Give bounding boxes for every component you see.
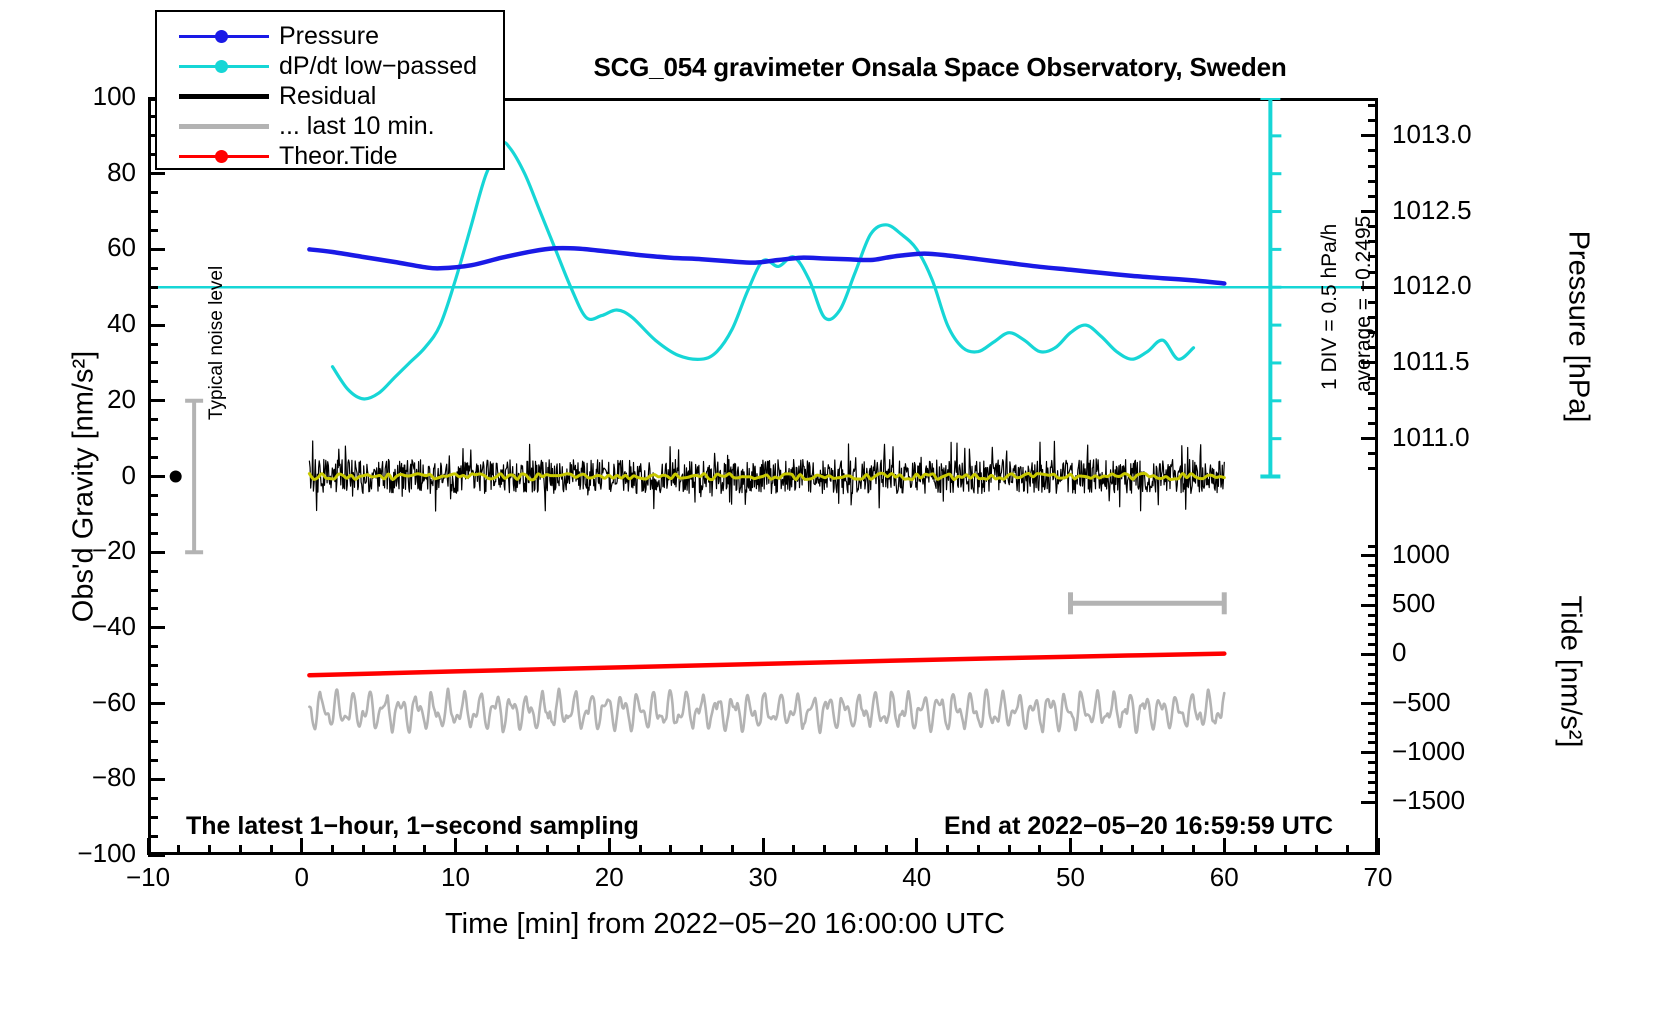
y-tick-tide-minor	[1368, 781, 1378, 784]
y-tick-pressure	[1361, 134, 1378, 137]
x-tick-minor	[1100, 845, 1103, 855]
legend-item-dp-dt-low-passed[interactable]: dP/dt low−passed	[157, 50, 503, 82]
x-tick	[915, 838, 918, 855]
y-tick-label-pressure: 1012.5	[1392, 195, 1522, 226]
x-tick-minor	[1284, 845, 1287, 855]
y-tick-tide-minor	[1368, 673, 1378, 676]
y-tick-left-minor	[148, 645, 158, 648]
y-tick-pressure	[1361, 437, 1378, 440]
x-tick-label: 10	[396, 862, 516, 893]
y-tick-tide	[1361, 653, 1378, 656]
y-tick-left	[148, 551, 165, 554]
legend: PressuredP/dt low−passedResidual... last…	[155, 10, 505, 170]
y-tick-tide-minor	[1368, 791, 1378, 794]
y-tick-left-minor	[148, 607, 158, 610]
y-tick-tide-minor	[1368, 574, 1378, 577]
y-tick-label-pressure: 1011.0	[1392, 422, 1522, 453]
y-tick-pressure-minor	[1368, 180, 1378, 183]
legend-item-pressure[interactable]: Pressure	[157, 20, 503, 52]
x-tick-minor	[977, 845, 980, 855]
y-tick-tide-minor	[1368, 633, 1378, 636]
x-tick-minor	[362, 845, 365, 855]
y-tick-label-left: −20	[0, 535, 136, 566]
x-tick-minor	[177, 845, 180, 855]
y-tick-label-tide: 0	[1392, 637, 1542, 668]
y-tick-tide-minor	[1368, 623, 1378, 626]
legend-marker-dot	[215, 150, 228, 163]
gravimeter-plot: SCG_054 gravimeter Onsala Space Observat…	[0, 0, 1660, 1020]
x-tick-minor	[885, 845, 888, 855]
y-tick-tide	[1361, 604, 1378, 607]
x-tick-label: 70	[1318, 862, 1438, 893]
y-tick-left-minor	[148, 343, 158, 346]
y-tick-label-left: 80	[0, 157, 136, 188]
x-tick-minor	[639, 845, 642, 855]
y-tick-tide-minor	[1368, 722, 1378, 725]
legend-item-residual[interactable]: Residual	[157, 80, 503, 112]
x-tick-minor	[485, 845, 488, 855]
y-tick-left-minor	[148, 570, 158, 573]
x-tick-label: 0	[242, 862, 362, 893]
y-tick-tide	[1361, 702, 1378, 705]
x-tick-label: 20	[549, 862, 669, 893]
legend-marker-dot	[215, 30, 228, 43]
x-tick-minor	[1254, 845, 1257, 855]
y-tick-tide-minor	[1368, 594, 1378, 597]
x-tick-minor	[1008, 845, 1011, 855]
y-tick-left-minor	[148, 229, 158, 232]
y-tick-left	[148, 172, 165, 175]
y-tick-tide-minor	[1368, 741, 1378, 744]
y-tick-label-tide: −1000	[1392, 736, 1542, 767]
y-axis-tide-label: Tide [nm/s²]	[1554, 442, 1587, 902]
legend-label: Theor.Tide	[279, 140, 398, 172]
x-tick-label: 40	[857, 862, 977, 893]
x-tick-label: 30	[703, 862, 823, 893]
y-tick-left	[148, 854, 165, 857]
x-tick-minor	[208, 845, 211, 855]
x-tick-minor	[946, 845, 949, 855]
noise-level-dot	[170, 471, 182, 483]
x-tick-minor	[393, 845, 396, 855]
y-tick-left	[148, 399, 165, 402]
x-tick-minor	[1346, 845, 1349, 855]
y-tick-pressure-minor	[1368, 104, 1378, 107]
x-tick-minor	[516, 845, 519, 855]
y-tick-label-left: 40	[0, 308, 136, 339]
x-tick-minor	[854, 845, 857, 855]
y-tick-label-tide: 500	[1392, 588, 1542, 619]
x-tick-minor	[239, 845, 242, 855]
y-tick-left-minor	[148, 532, 158, 535]
y-tick-left-minor	[148, 683, 158, 686]
y-tick-left-minor	[148, 721, 158, 724]
y-tick-left-minor	[148, 267, 158, 270]
y-tick-label-tide: −1500	[1392, 785, 1542, 816]
y-tick-left-minor	[148, 286, 158, 289]
y-tick-tide	[1361, 751, 1378, 754]
x-tick-minor	[1315, 845, 1318, 855]
x-tick-label: 50	[1011, 862, 1131, 893]
y-tick-left-minor	[148, 816, 158, 819]
y-tick-tide-minor	[1368, 732, 1378, 735]
x-tick-minor	[546, 845, 549, 855]
y-tick-tide-minor	[1368, 761, 1378, 764]
x-tick-minor	[792, 845, 795, 855]
legend-item-last-10-min[interactable]: ... last 10 min.	[157, 110, 503, 142]
series-theor-tide	[309, 654, 1224, 676]
y-tick-left	[148, 778, 165, 781]
legend-label: Pressure	[279, 20, 379, 52]
y-tick-left-minor	[148, 589, 158, 592]
y-tick-label-left: 60	[0, 232, 136, 263]
legend-item-theor-tide[interactable]: Theor.Tide	[157, 140, 503, 172]
y-tick-left-minor	[148, 456, 158, 459]
y-tick-pressure-minor	[1368, 467, 1378, 470]
y-tick-label-left: −80	[0, 762, 136, 793]
y-tick-label-left: 100	[0, 81, 136, 112]
x-tick-minor	[1038, 845, 1041, 855]
y-tick-tide-minor	[1368, 614, 1378, 617]
y-tick-label-pressure: 1013.0	[1392, 119, 1522, 150]
sampling-note: The latest 1−hour, 1−second sampling	[186, 812, 639, 841]
series-last-10-min	[309, 689, 1224, 733]
y-tick-left-minor	[148, 361, 158, 364]
series-svg	[148, 98, 1378, 855]
y-tick-label-tide: 1000	[1392, 539, 1542, 570]
y-tick-pressure	[1361, 210, 1378, 213]
plot-series-layer	[148, 98, 1378, 855]
x-tick	[762, 838, 765, 855]
y-tick-left-minor	[148, 740, 158, 743]
x-tick-minor	[731, 845, 734, 855]
y-tick-label-left: −60	[0, 687, 136, 718]
y-tick-left-minor	[148, 797, 158, 800]
y-tick-pressure-minor	[1368, 422, 1378, 425]
y-tick-tide	[1361, 554, 1378, 557]
legend-label: Residual	[279, 80, 376, 112]
y-tick-tide	[1361, 801, 1378, 804]
y-tick-tide-minor	[1368, 643, 1378, 646]
x-tick-minor	[823, 845, 826, 855]
x-tick-minor	[700, 845, 703, 855]
page-title: SCG_054 gravimeter Onsala Space Observat…	[450, 52, 1430, 83]
x-tick	[1377, 838, 1380, 855]
y-tick-tide-minor	[1368, 584, 1378, 587]
x-tick-minor	[577, 845, 580, 855]
y-tick-left-minor	[148, 210, 158, 213]
div-scale-note: 1 DIV = 0.5 hPa/h	[1318, 224, 1342, 390]
x-tick-minor	[423, 845, 426, 855]
x-tick-minor	[669, 845, 672, 855]
y-tick-pressure-minor	[1368, 149, 1378, 152]
y-tick-left-minor	[148, 380, 158, 383]
x-tick-minor	[1192, 845, 1195, 855]
x-tick-minor	[270, 845, 273, 855]
x-tick-minor	[331, 845, 334, 855]
x-tick	[147, 838, 150, 855]
legend-line-swatch	[179, 124, 269, 129]
legend-marker-dot	[215, 60, 228, 73]
y-tick-left-minor	[148, 191, 158, 194]
x-tick-minor	[1131, 845, 1134, 855]
y-tick-left-minor	[148, 835, 158, 838]
y-tick-left	[148, 324, 165, 327]
y-tick-left	[148, 248, 165, 251]
y-tick-tide-minor	[1368, 564, 1378, 567]
y-tick-pressure-minor	[1368, 452, 1378, 455]
y-tick-label-tide: −500	[1392, 687, 1542, 718]
y-tick-tide-minor	[1368, 692, 1378, 695]
y-tick-label-pressure: 1011.5	[1392, 346, 1522, 377]
y-tick-tide-minor	[1368, 682, 1378, 685]
y-tick-left	[148, 702, 165, 705]
y-tick-pressure-minor	[1368, 119, 1378, 122]
x-tick-minor	[1161, 845, 1164, 855]
series-pressure	[309, 248, 1224, 283]
y-tick-left-minor	[148, 759, 158, 762]
average-note: average = −0.2495	[1352, 216, 1376, 392]
x-tick-label: 60	[1164, 862, 1284, 893]
y-tick-tide-minor	[1368, 545, 1378, 548]
y-tick-left	[148, 626, 165, 629]
legend-label: dP/dt low−passed	[279, 50, 477, 82]
y-tick-pressure-minor	[1368, 392, 1378, 395]
legend-line-swatch	[179, 94, 269, 99]
y-tick-left-minor	[148, 664, 158, 667]
end-time-note: End at 2022−05−20 16:59:59 UTC	[944, 812, 1333, 841]
x-axis-label: Time [min] from 2022−05−20 16:00:00 UTC	[0, 908, 1450, 941]
y-tick-pressure-minor	[1368, 165, 1378, 168]
y-tick-label-left: 0	[0, 460, 136, 491]
y-tick-left	[148, 475, 165, 478]
y-tick-tide-minor	[1368, 771, 1378, 774]
y-tick-pressure-minor	[1368, 195, 1378, 198]
y-tick-left-minor	[148, 305, 158, 308]
y-tick-left-minor	[148, 494, 158, 497]
y-tick-tide-minor	[1368, 663, 1378, 666]
y-tick-label-pressure: 1012.0	[1392, 270, 1522, 301]
y-tick-pressure-minor	[1368, 407, 1378, 410]
noise-level-label: Typical noise level	[206, 266, 228, 420]
y-tick-label-left: 20	[0, 384, 136, 415]
legend-label: ... last 10 min.	[279, 110, 435, 142]
x-tick-label: −10	[88, 862, 208, 893]
y-tick-label-left: −40	[0, 611, 136, 642]
y-tick-left-minor	[148, 437, 158, 440]
y-tick-left-minor	[148, 513, 158, 516]
y-tick-tide-minor	[1368, 712, 1378, 715]
y-tick-left-minor	[148, 418, 158, 421]
